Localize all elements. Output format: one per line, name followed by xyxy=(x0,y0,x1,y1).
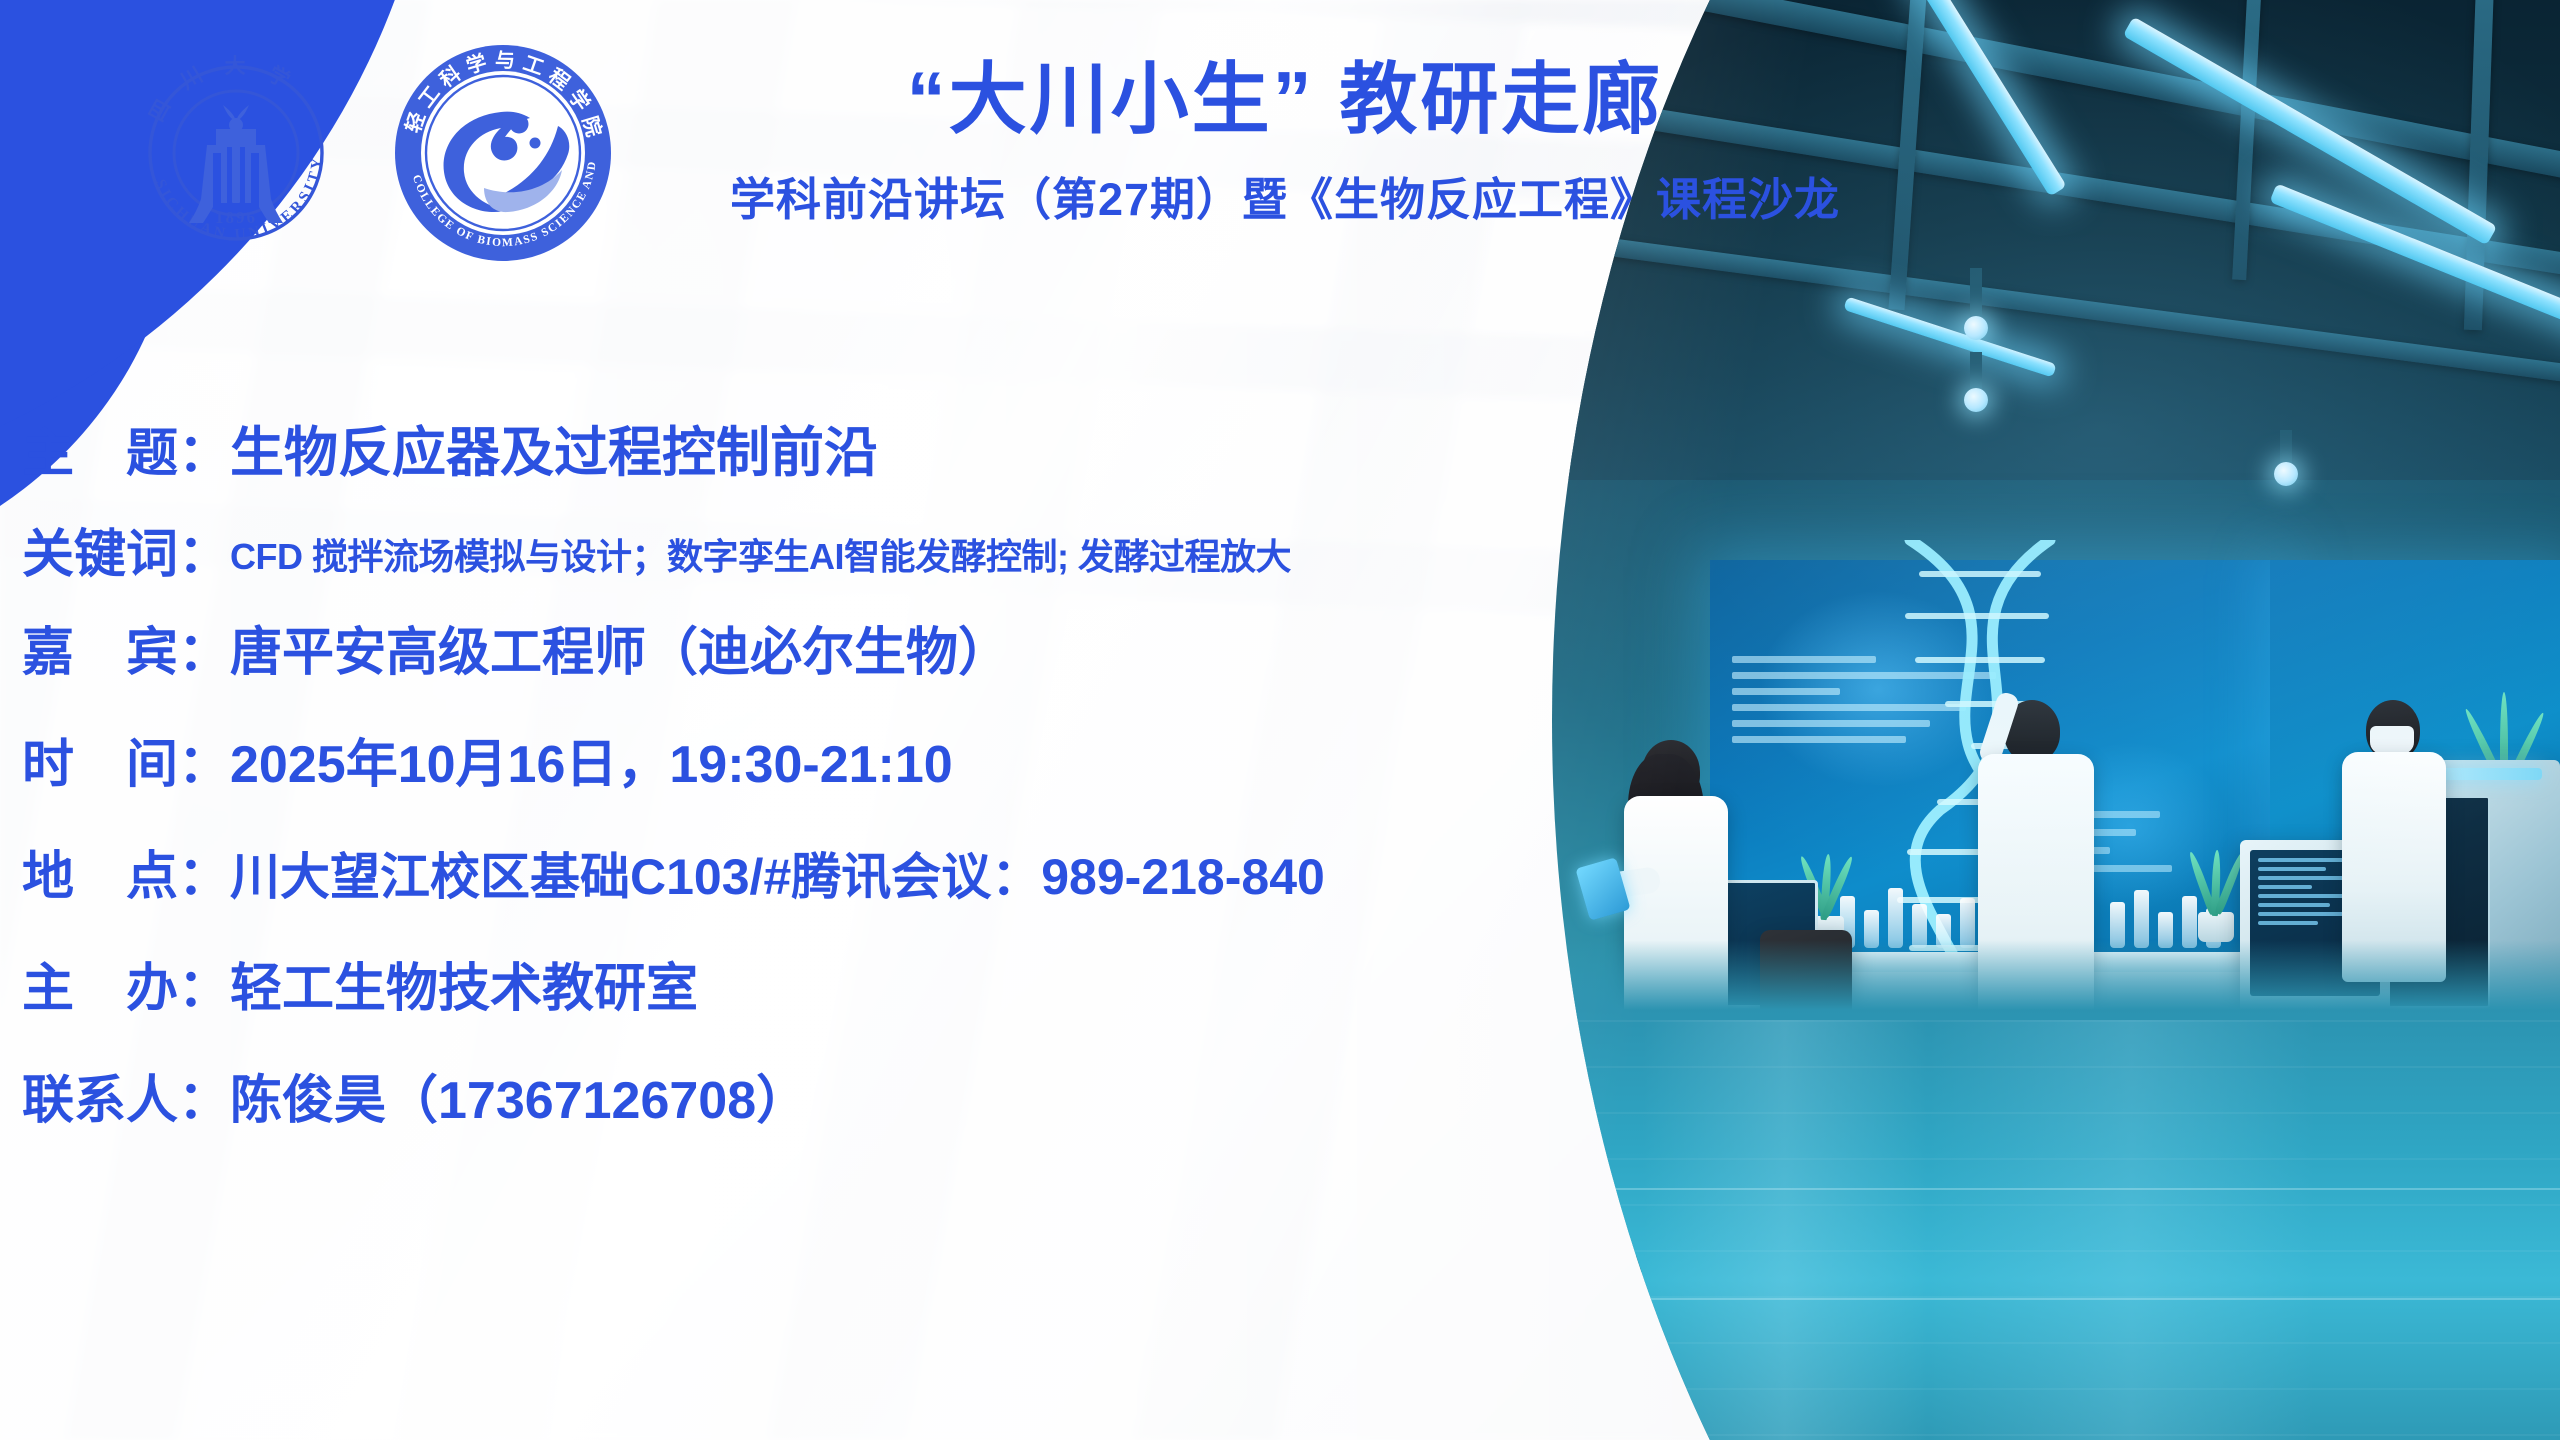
logo-group: 四 川 大 学 SICHUAN UNIVERSITY 1896 xyxy=(128,38,618,268)
info-list: 主 题： 生物反应器及过程控制前沿 关键词： CFD 搅拌流场模拟与设计；数字孪… xyxy=(22,408,1325,1158)
info-value-guest: 唐平安高级工程师（迪必尔生物） xyxy=(230,610,1010,685)
info-label-guest: 嘉 宾： xyxy=(22,610,230,685)
page-title: “大川小生” 教研走廊 xyxy=(620,56,1950,143)
info-label-keywords: 关键词： xyxy=(22,512,230,587)
header-text-block: “大川小生” 教研走廊 学科前沿讲坛（第27期）暨《生物反应工程》课程沙龙 xyxy=(620,56,1950,228)
sichuan-university-logo: 四 川 大 学 SICHUAN UNIVERSITY 1896 xyxy=(128,45,344,261)
info-label-topic: 主 题： xyxy=(22,411,230,486)
info-row-time: 时 间： 2025年10月16日，19:30-21:10 xyxy=(22,722,1325,834)
info-row-keywords: 关键词： CFD 搅拌流场模拟与设计；数字孪生AI智能发酵控制; 发酵过程放大 xyxy=(22,512,1325,610)
svg-text:1896: 1896 xyxy=(215,208,257,227)
page-subtitle: 学科前沿讲坛（第27期）暨《生物反应工程》课程沙龙 xyxy=(620,163,1950,228)
info-label-time: 时 间： xyxy=(22,722,230,797)
info-label-host: 主 办： xyxy=(22,946,230,1021)
info-row-host: 主 办： 轻工生物技术教研室 xyxy=(22,946,1325,1058)
info-value-host: 轻工生物技术教研室 xyxy=(230,946,698,1021)
info-row-guest: 嘉 宾： 唐平安高级工程师（迪必尔生物） xyxy=(22,610,1325,722)
info-label-place: 地 点： xyxy=(22,834,230,909)
info-value-place: 川大望江校区基础C103/#腾讯会议：989-218-840 xyxy=(230,837,1325,909)
info-row-contact: 联系人： 陈俊昊（17367126708） xyxy=(22,1058,1325,1158)
svg-text:四 川 大 学: 四 川 大 学 xyxy=(144,54,293,126)
info-value-contact: 陈俊昊（17367126708） xyxy=(230,1058,808,1133)
info-value-topic: 生物反应器及过程控制前沿 xyxy=(230,408,878,487)
info-value-time: 2025年10月16日，19:30-21:10 xyxy=(230,722,953,797)
info-row-place: 地 点： 川大望江校区基础C103/#腾讯会议：989-218-840 xyxy=(22,834,1325,946)
college-of-biomass-science-and-engineering-logo: 轻 工 科 学 与 工 程 学 院 COLLEGE OF BIOMASS SCI… xyxy=(388,38,618,268)
info-value-keywords: CFD 搅拌流场模拟与设计；数字孪生AI智能发酵控制; 发酵过程放大 xyxy=(230,528,1291,580)
info-label-contact: 联系人： xyxy=(22,1058,230,1133)
info-row-topic: 主 题： 生物反应器及过程控制前沿 xyxy=(22,408,1325,512)
poster-root: 300 xyxy=(0,0,2560,1440)
